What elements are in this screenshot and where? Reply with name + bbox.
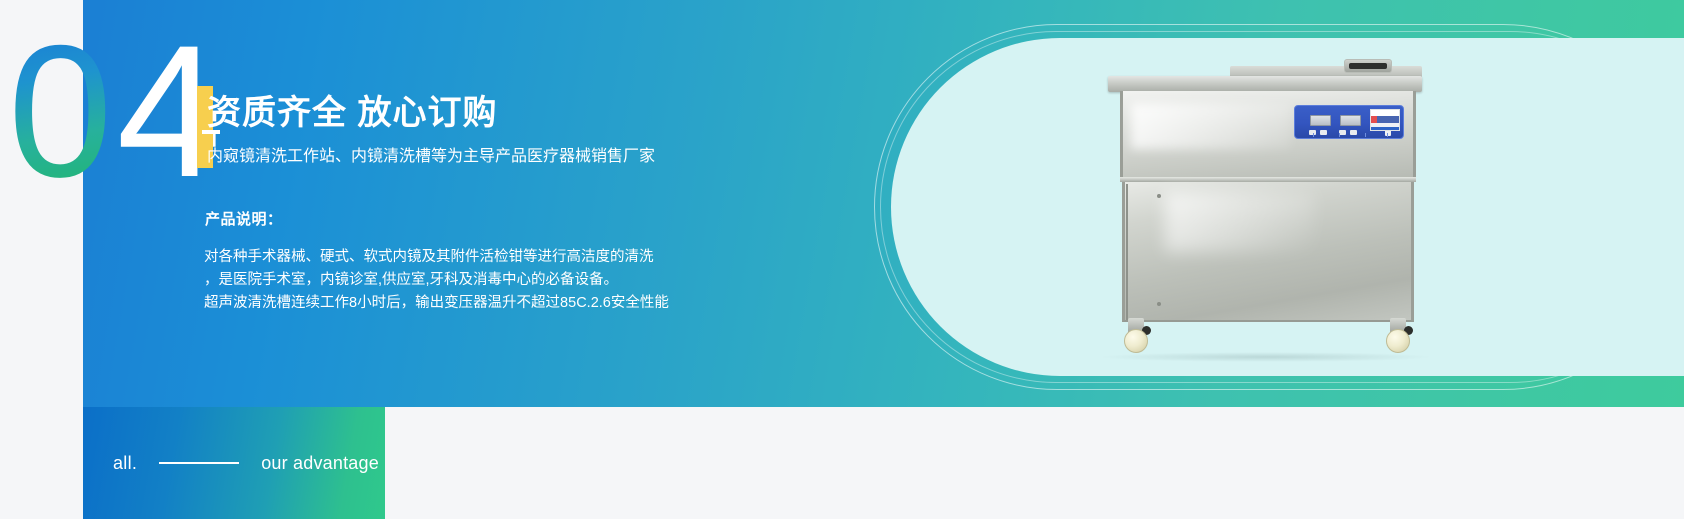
sticker-logo xyxy=(1371,116,1399,123)
step-number-zero: 0 xyxy=(0,34,111,189)
product-image-ultrasonic-cleaner xyxy=(1100,56,1430,361)
machine-lower-highlight xyxy=(1165,192,1315,252)
sticker-bar xyxy=(1371,127,1399,130)
advantage-divider xyxy=(159,462,239,464)
machine-button-3 xyxy=(1339,130,1346,135)
description-line-1: 对各种手术器械、硬式、软式内镜及其附件活检钳等进行高洁度的清洗 xyxy=(204,246,724,269)
description-body: 对各种手术器械、硬式、软式内镜及其附件活检钳等进行高洁度的清洗 ，是医院手术室，… xyxy=(204,246,724,315)
description-line-3: 超声波清洗槽连续工作8小时后，输出变压器温升不超过85C.2.6安全性能 xyxy=(204,292,724,315)
step-number: 04 xyxy=(0,34,190,189)
description-title: 产品说明： xyxy=(205,208,283,229)
machine-display-left xyxy=(1310,115,1331,126)
banner-slide: 04 资质齐全 放心订购 内窥镜清洗工作站、内镜清洗槽等为主导产品医疗器械销售厂… xyxy=(0,0,1684,519)
advantage-bar: all. our advantage xyxy=(83,407,385,519)
machine-panel-tick-1 xyxy=(1313,133,1314,137)
machine-latch-bottom xyxy=(1157,302,1161,306)
caster-wheel xyxy=(1124,329,1148,353)
machine-panel-tick-2 xyxy=(1339,133,1340,137)
advantage-left-label: all. xyxy=(113,453,137,474)
machine-button-4 xyxy=(1350,130,1357,135)
machine-panel-tick-3 xyxy=(1365,133,1366,137)
machine-worktop xyxy=(1108,76,1422,92)
advantage-right-label: our advantage xyxy=(261,453,379,474)
machine-button-2 xyxy=(1320,130,1327,135)
machine-upper-highlight xyxy=(1131,103,1291,149)
machine-lid-handle xyxy=(1344,59,1392,73)
machine-lower-cabinet xyxy=(1122,182,1414,322)
machine-panel-tick-4 xyxy=(1387,133,1388,137)
page-title: 资质齐全 放心订购 xyxy=(207,85,497,134)
machine-display-right xyxy=(1340,115,1361,126)
page-subtitle: 内窥镜清洗工作站、内镜清洗槽等为主导产品医疗器械销售厂家 xyxy=(207,142,655,166)
machine-door-edge xyxy=(1126,184,1128,320)
caster-wheel xyxy=(1386,329,1410,353)
machine-caster-left xyxy=(1122,318,1150,354)
description-line-2: ，是医院手术室，内镜诊室,供应室,牙科及消毒中心的必备设备。 xyxy=(204,269,724,292)
machine-caster-right xyxy=(1384,318,1412,354)
machine-latch-top xyxy=(1157,194,1161,198)
machine-brand-sticker xyxy=(1370,109,1400,131)
